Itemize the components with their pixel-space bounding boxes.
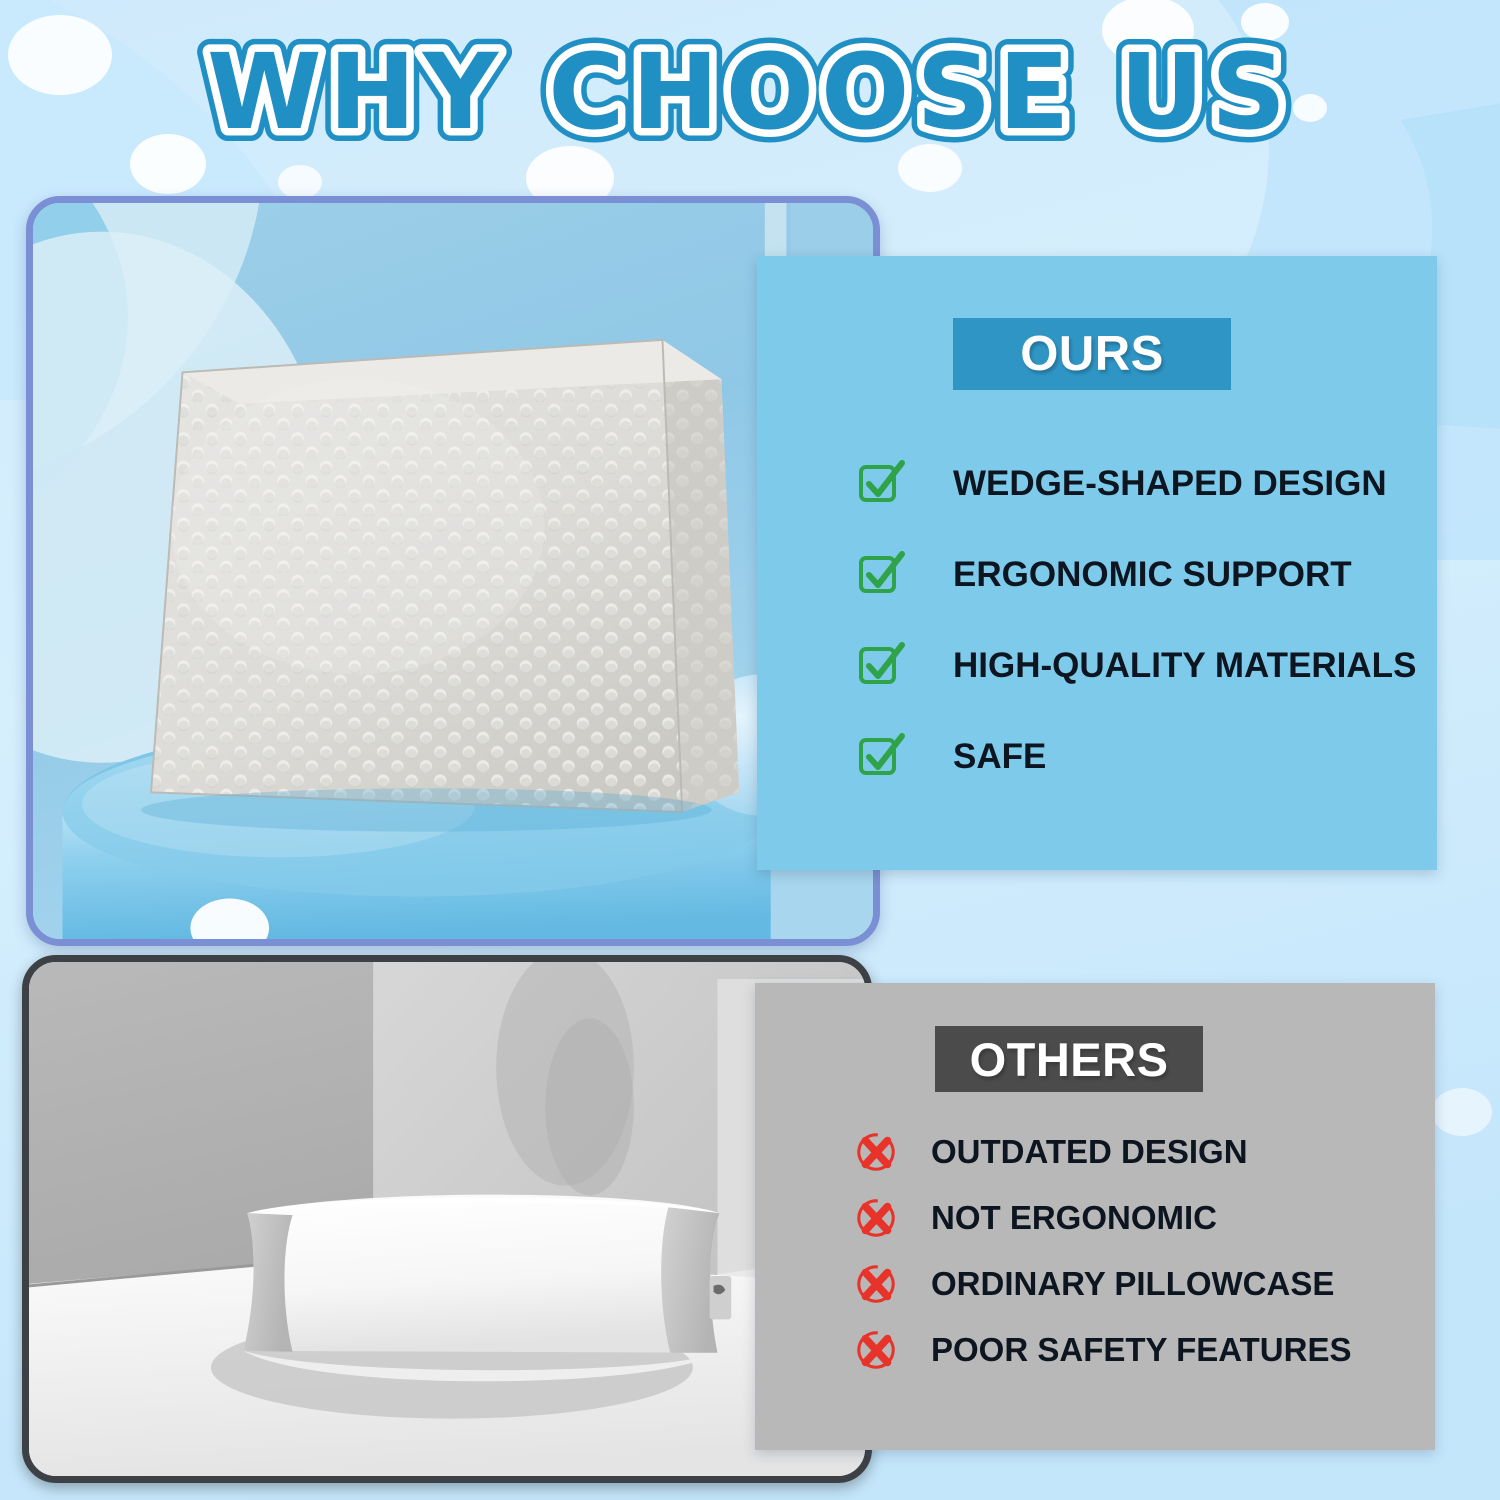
competitor-pillow-photo (29, 962, 865, 1476)
list-item-label: NOT ERGONOMIC (931, 1199, 1217, 1237)
list-item-label: ERGONOMIC SUPPORT (953, 555, 1352, 595)
list-item: POOR SAFETY FEATURES (855, 1317, 1425, 1383)
list-item-label: POOR SAFETY FEATURES (931, 1331, 1352, 1369)
others-comparison-panel: OTHERS OUTDATED DESIGN NOT ERGONOMIC (755, 983, 1435, 1450)
others-feature-list: OUTDATED DESIGN NOT ERGONOMIC ORDINARY P… (855, 1119, 1425, 1383)
list-item-label: OUTDATED DESIGN (931, 1133, 1248, 1171)
check-square-icon (857, 460, 905, 508)
list-item: ERGONOMIC SUPPORT (857, 529, 1417, 620)
page-title-svg: WHY CHOOSE US WHY CHOOSE US WHY CHOOSE U… (0, 28, 1500, 158)
list-item-label: ORDINARY PILLOWCASE (931, 1265, 1334, 1303)
others-product-photo-card (22, 955, 872, 1483)
ours-comparison-panel: OURS WEDGE-SHAPED DESIGN ERGONOMIC SUPPO… (757, 256, 1437, 870)
ours-feature-list: WEDGE-SHAPED DESIGN ERGONOMIC SUPPORT HI… (857, 438, 1417, 802)
cross-circle-icon (855, 1263, 897, 1305)
others-badge: OTHERS (935, 1026, 1203, 1092)
list-item-label: WEDGE-SHAPED DESIGN (953, 464, 1387, 504)
list-item: OUTDATED DESIGN (855, 1119, 1425, 1185)
check-square-icon (857, 733, 905, 781)
cross-circle-icon (855, 1329, 897, 1371)
check-square-icon (857, 551, 905, 599)
list-item-label: HIGH-QUALITY MATERIALS (953, 646, 1416, 686)
list-item: SAFE (857, 711, 1417, 802)
list-item-label: SAFE (953, 737, 1046, 777)
page-title: WHY CHOOSE US WHY CHOOSE US WHY CHOOSE U… (0, 28, 1500, 158)
wedge-pillow-product-photo (33, 203, 873, 939)
list-item: HIGH-QUALITY MATERIALS (857, 620, 1417, 711)
list-item: ORDINARY PILLOWCASE (855, 1251, 1425, 1317)
cross-circle-icon (855, 1131, 897, 1173)
cross-circle-icon (855, 1197, 897, 1239)
ours-badge: OURS (953, 318, 1231, 390)
page-title-text: WHY CHOOSE US (207, 31, 1293, 153)
ours-product-photo-card (26, 196, 880, 946)
list-item: NOT ERGONOMIC (855, 1185, 1425, 1251)
list-item: WEDGE-SHAPED DESIGN (857, 438, 1417, 529)
check-square-icon (857, 642, 905, 690)
